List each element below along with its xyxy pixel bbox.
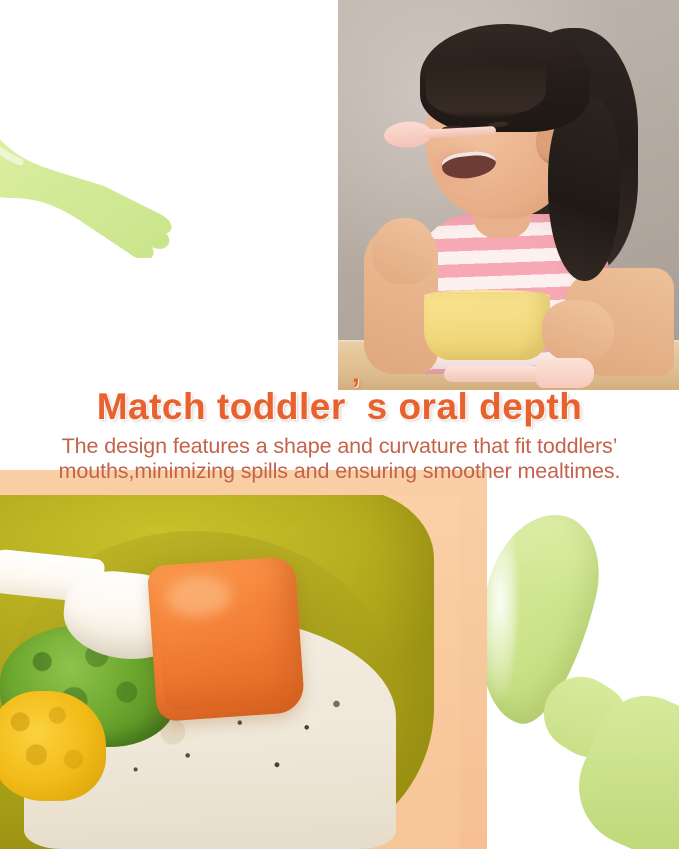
yellow-bowl [424,292,550,360]
panel-green-spoon-photo [487,470,679,849]
corn-texture [0,691,106,801]
right-hand [542,300,614,362]
spoon-handle [424,126,496,139]
subtitle-line-2: mouths,minimizing spills and ensuring sm… [0,459,679,484]
corn-kernels [0,691,106,801]
panel-green-fork-photo [0,0,338,390]
marketing-copy-block: Match toddler’s oral depth The design fe… [0,382,679,502]
headline-part-2: s oral depth [367,386,583,427]
carrot-chunk [147,556,306,722]
carrot-highlight [166,575,233,619]
carrot-shadow-face [160,633,291,712]
headline-part-1: Match toddler [97,386,346,427]
left-hand [372,218,434,284]
green-spoon-product [487,512,679,849]
green-fork-product-icon [0,78,238,258]
headline: Match toddler’s oral depth [0,386,679,428]
subtitle: The design features a shape and curvatur… [0,434,679,484]
subtitle-line-1: The design features a shape and curvatur… [62,434,618,458]
headline-apostrophe: ’ [346,373,367,407]
panel-toddler-photo [338,0,679,390]
toddler-figure [338,0,679,390]
panel-food-bowl-photo [0,495,460,849]
product-feature-image: Match toddler’s oral depth The design fe… [0,0,679,849]
fork-handle [444,366,548,382]
